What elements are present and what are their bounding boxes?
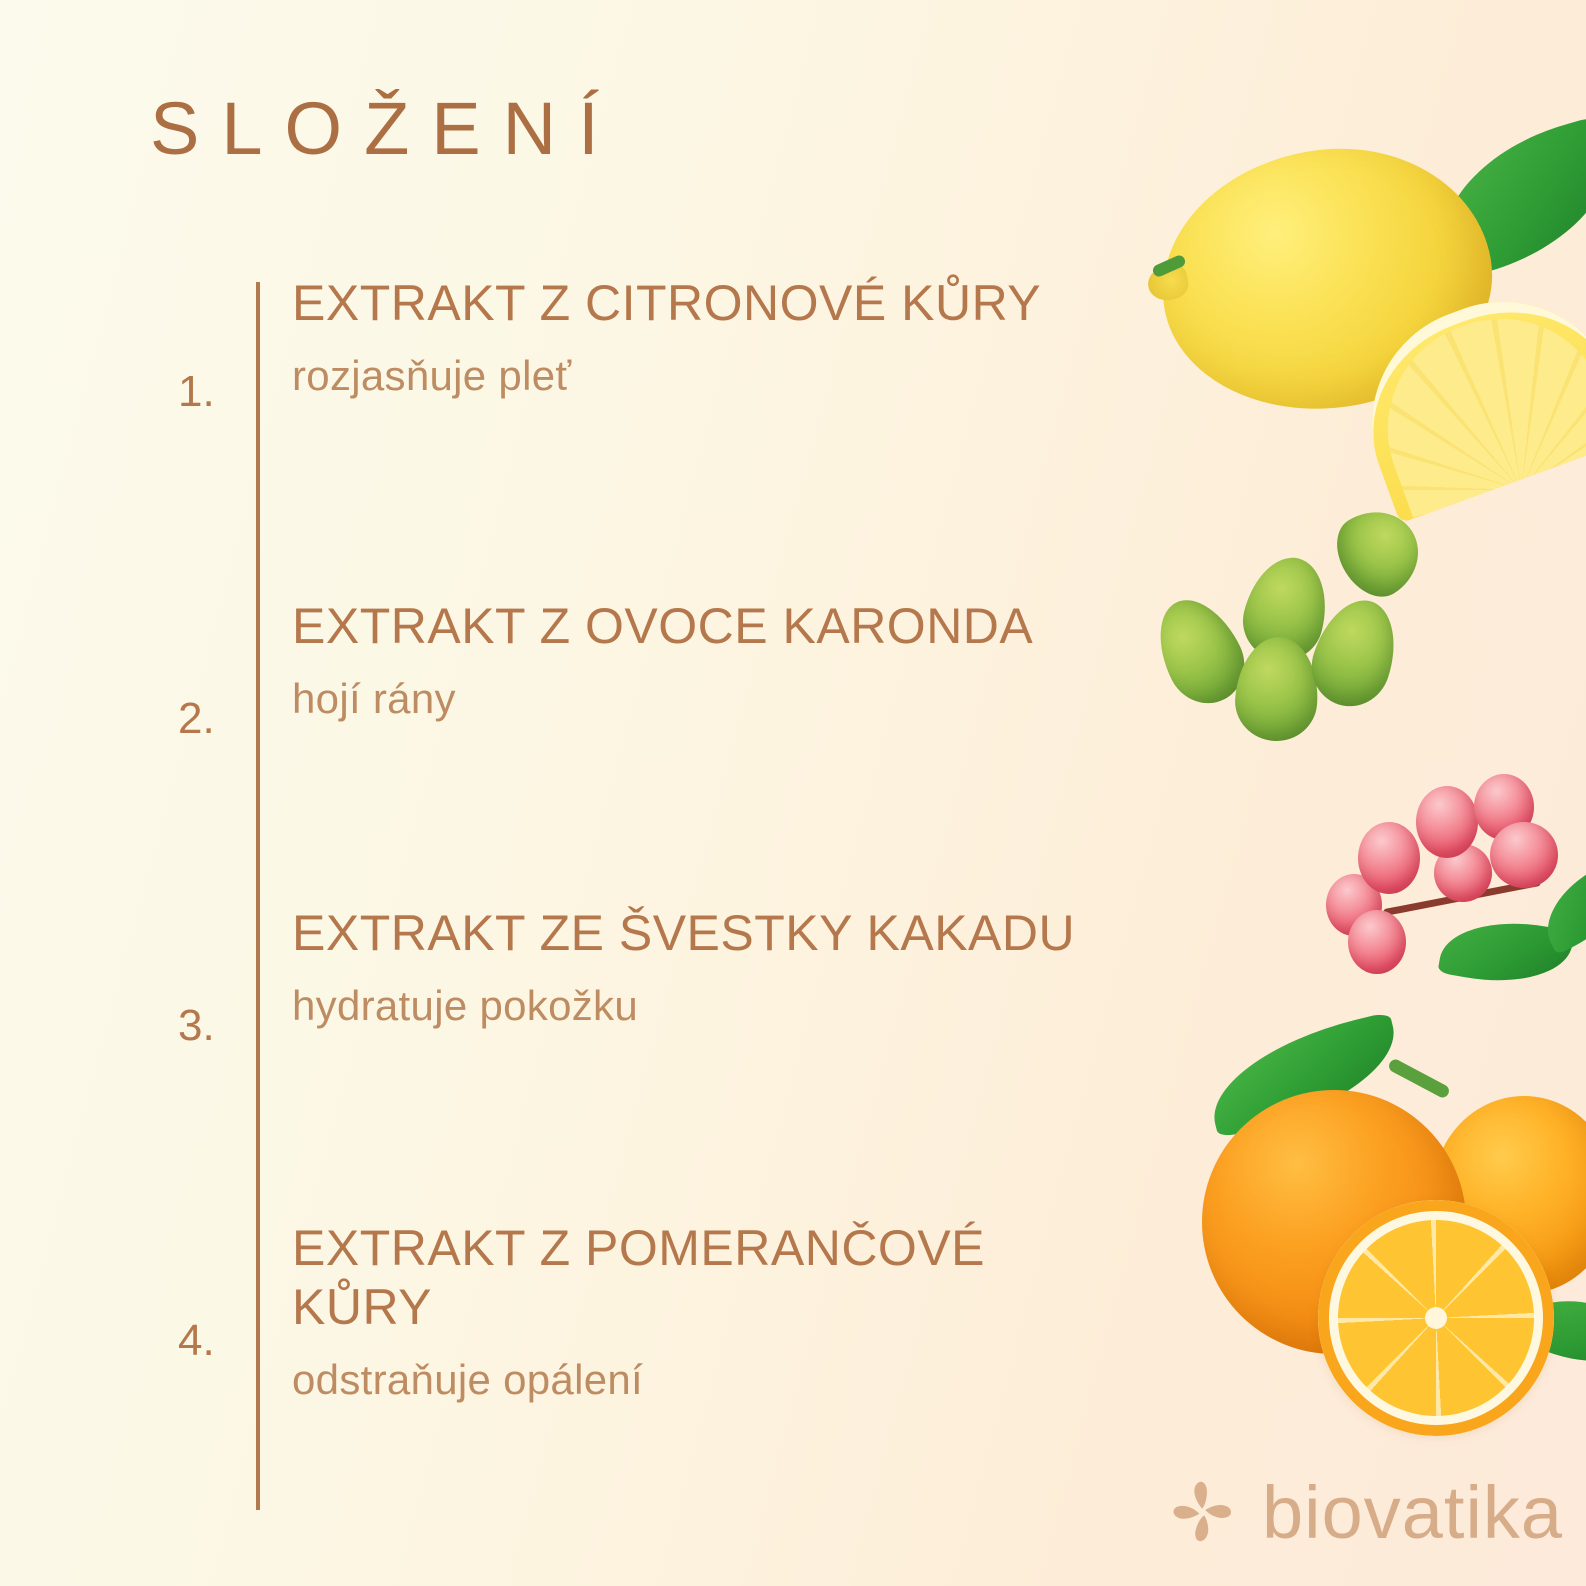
list-item-body: EXTRAKT ZE ŠVESTKY KAKADU hydratuje poko…	[292, 904, 1102, 1029]
list-item-subtitle: hydratuje pokožku	[292, 983, 1102, 1029]
list-item: 1. EXTRAKT Z CITRONOVÉ KŮRY rozjasňuje p…	[150, 268, 1110, 575]
karonda-berry-icon	[1348, 910, 1406, 974]
karonda-stem-icon	[1383, 879, 1541, 916]
page-title: SLOŽENÍ	[150, 92, 621, 166]
orange-half-pulp	[1338, 1220, 1534, 1416]
list-item-title: EXTRAKT Z OVOCE KARONDA	[292, 597, 1102, 656]
orange-leaf-icon	[1514, 1277, 1586, 1385]
karonda-berry-icon	[1358, 822, 1420, 894]
list-item-number: 3.	[178, 1004, 248, 1048]
karonda-berry-icon	[1434, 844, 1492, 902]
orange-fruit-icon	[1202, 1090, 1466, 1354]
list-item-number: 4.	[178, 1319, 248, 1363]
karonda-green-fruit-icon	[1301, 590, 1409, 717]
karonda-green-fruit-icon	[1235, 549, 1338, 669]
orange-half-icon	[1318, 1200, 1554, 1436]
list-item-title: EXTRAKT Z CITRONOVÉ KŮRY	[292, 274, 1102, 333]
list-item-title: EXTRAKT ZE ŠVESTKY KAKADU	[292, 904, 1102, 963]
ingredients-list: 1. EXTRAKT Z CITRONOVÉ KŮRY rozjasňuje p…	[150, 268, 1110, 1496]
list-item-subtitle: hojí rány	[292, 676, 1102, 722]
list-item-body: EXTRAKT Z POMERANČOVÉ KŮRY odstraňuje op…	[292, 1219, 1102, 1403]
lemon-wedge-icon	[1339, 269, 1586, 524]
lemon-leaf-icon	[1419, 114, 1586, 282]
list-item-title: EXTRAKT Z POMERANČOVÉ KŮRY	[292, 1219, 1102, 1337]
four-petal-flower-icon	[1166, 1476, 1240, 1550]
karonda-berry-icon	[1474, 774, 1534, 840]
list-item: 4. EXTRAKT Z POMERANČOVÉ KŮRY odstraňuje…	[150, 1189, 1110, 1496]
karonda-berry-icon	[1326, 874, 1382, 936]
orange-stem-icon	[1387, 1057, 1451, 1099]
karonda-green-fruit-icon	[1142, 586, 1258, 716]
karonda-green-fruit-photo	[1150, 505, 1480, 775]
karonda-leaf-icon	[1437, 909, 1574, 994]
list-item-number: 2.	[178, 697, 248, 741]
karonda-pink-berry-photo	[1330, 770, 1586, 1000]
orange-half-peel	[1318, 1200, 1554, 1436]
orange-fruit-icon	[1432, 1096, 1586, 1294]
orange-photo	[1150, 1030, 1586, 1450]
lemon-stem-icon	[1151, 254, 1187, 279]
ingredients-poster: SLOŽENÍ 1. EXTRAKT Z CITRONOVÉ KŮRY rozj…	[0, 0, 1586, 1586]
list-item-body: EXTRAKT Z CITRONOVÉ KŮRY rozjasňuje pleť	[292, 274, 1102, 399]
brand-name: biovatika	[1262, 1476, 1563, 1550]
orange-leaf-icon	[1199, 1012, 1409, 1139]
lemon-photo	[1140, 120, 1586, 490]
list-item-subtitle: rozjasňuje pleť	[292, 353, 1102, 399]
lemon-wedge-flesh	[1357, 288, 1586, 523]
list-item-subtitle: odstraňuje opálení	[292, 1357, 1102, 1403]
orange-half-core	[1425, 1307, 1447, 1329]
karonda-berry-icon	[1490, 822, 1558, 888]
lemon-nub-icon	[1145, 262, 1191, 304]
lemon-fruit-icon	[1148, 131, 1507, 427]
karonda-berry-icon	[1416, 786, 1478, 858]
list-item-body: EXTRAKT Z OVOCE KARONDA hojí rány	[292, 597, 1102, 722]
karonda-green-fruit-icon	[1323, 495, 1435, 609]
orange-half-pith	[1329, 1211, 1543, 1425]
list-item: 2. EXTRAKT Z OVOCE KARONDA hojí rány	[150, 575, 1110, 882]
karonda-leaf-icon	[1530, 859, 1586, 955]
lemon-wedge-rind	[1339, 269, 1586, 524]
brand-logo: biovatika	[1166, 1476, 1563, 1550]
karonda-green-fruit-icon	[1232, 634, 1321, 743]
list-item: 3. EXTRAKT ZE ŠVESTKY KAKADU hydratuje p…	[150, 882, 1110, 1189]
list-item-number: 1.	[178, 370, 248, 414]
